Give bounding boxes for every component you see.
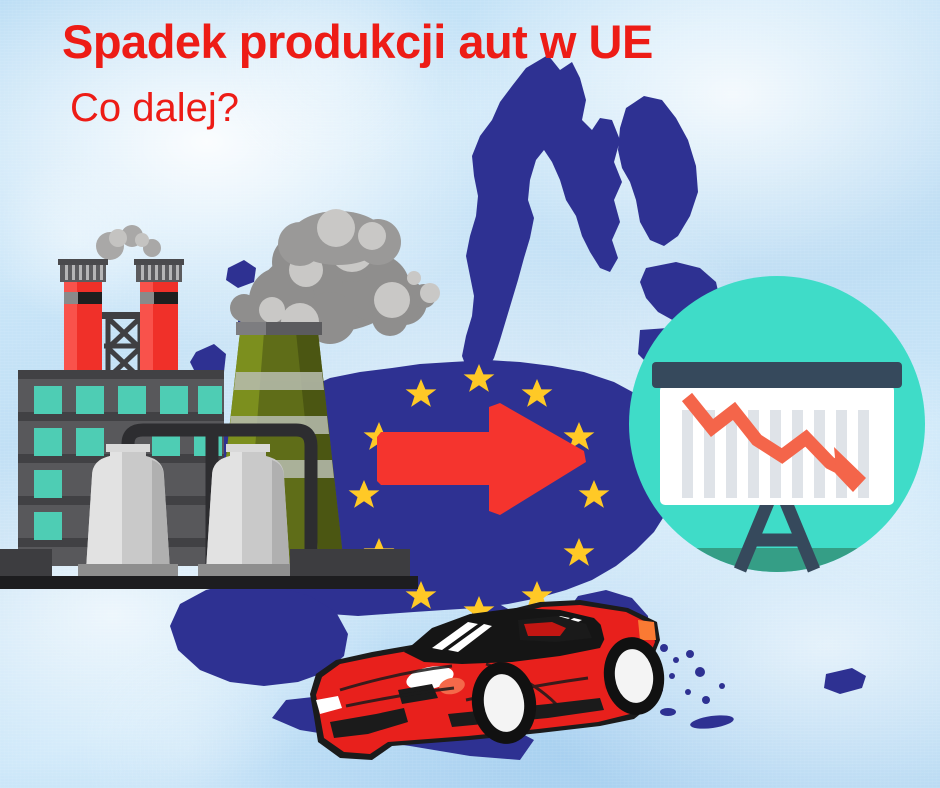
headline-block: Spadek produkcji aut w UE Co dalej? [62,18,653,128]
page-title: Spadek produkcji aut w UE [62,18,653,66]
page-subtitle: Co dalej? [70,88,653,128]
poster-canvas: Spadek produkcji aut w UE Co dalej? [0,0,940,788]
